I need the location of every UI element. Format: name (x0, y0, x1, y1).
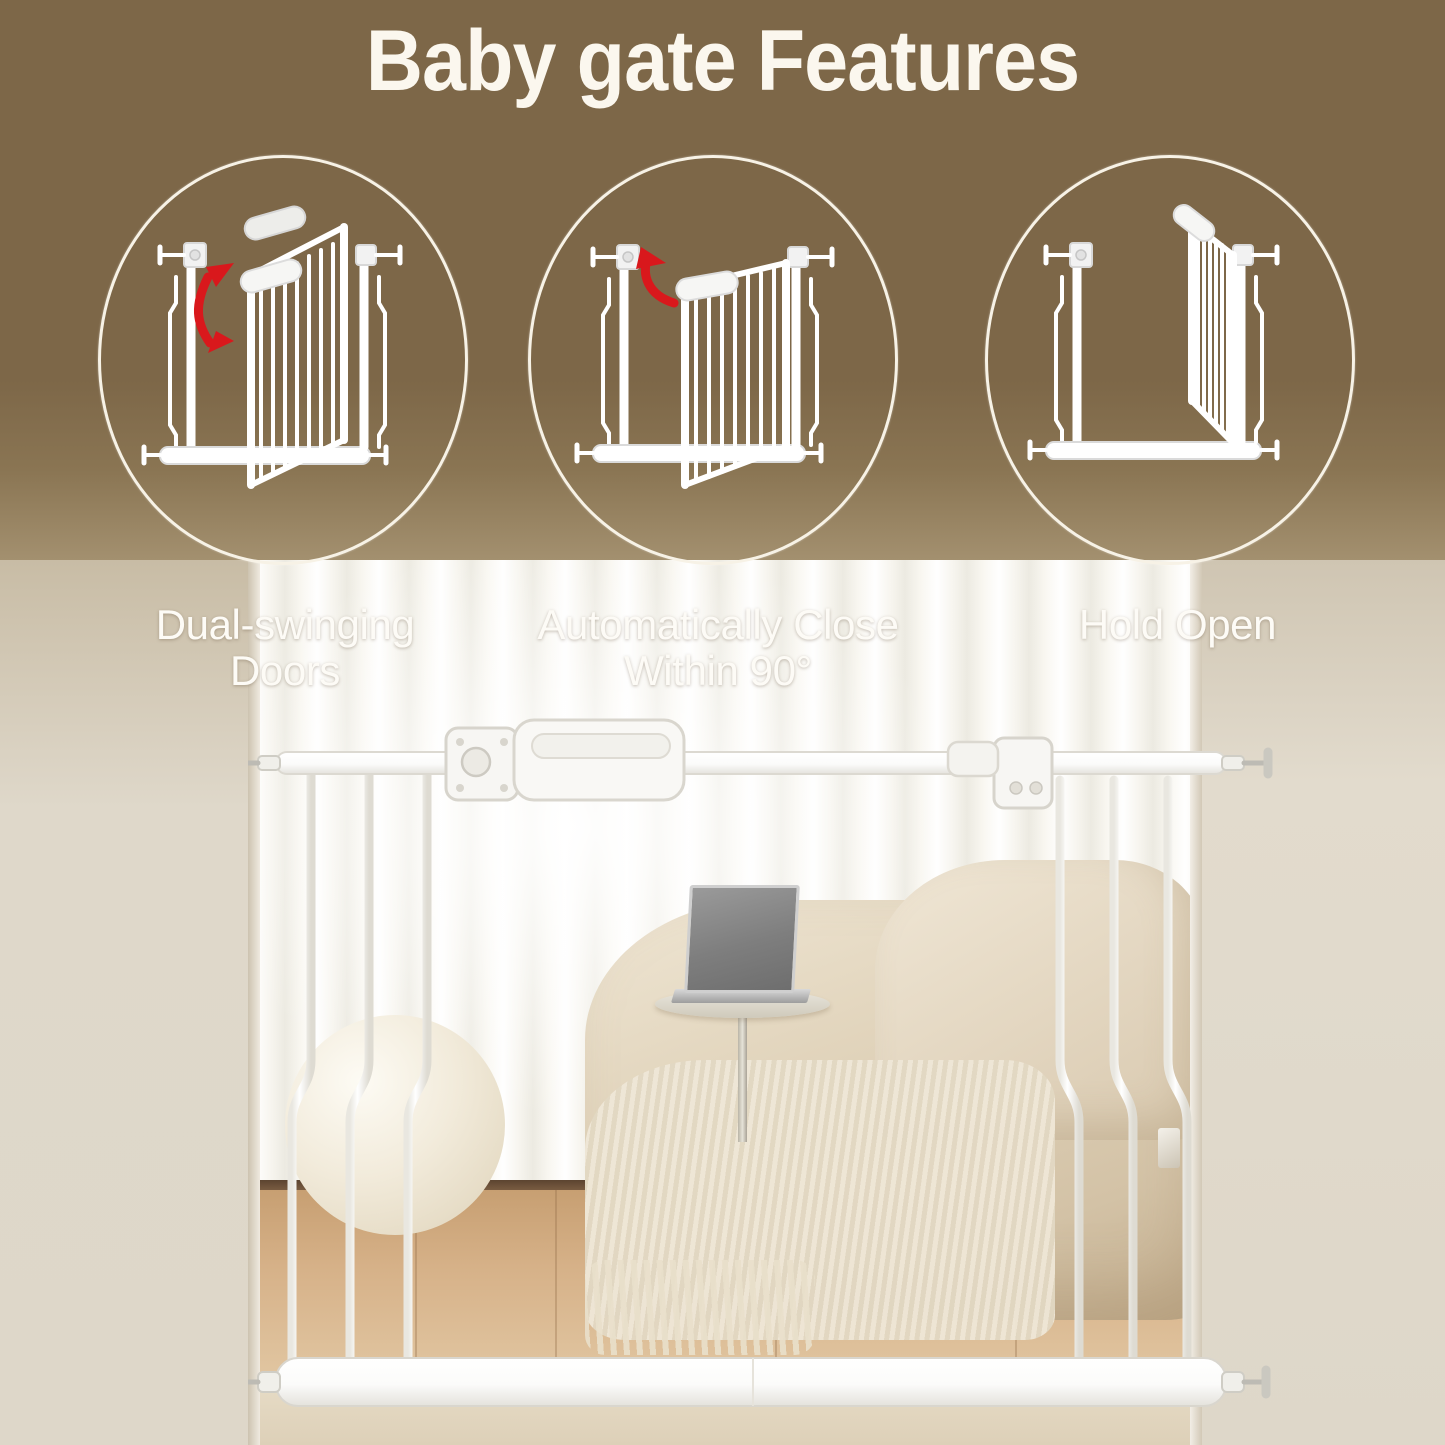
hinge-bracket (446, 728, 518, 800)
caption-line-1: Hold Open (1000, 602, 1355, 648)
bottom-rail (276, 1358, 1226, 1406)
left-extension-panel (292, 772, 427, 1380)
dual-swing-gate-illustration (98, 155, 468, 565)
caption-line-2: Within 90° (488, 648, 948, 694)
feature-dual-swinging-doors (98, 155, 468, 565)
feature-automatically-close (528, 155, 898, 565)
auto-close-arrow (636, 247, 674, 303)
image-canvas: Baby gate Features (0, 0, 1445, 1445)
main-baby-gate (248, 690, 1445, 1445)
feature-hold-open (985, 155, 1355, 565)
auto-close-gate-illustration (528, 155, 898, 565)
bottom-left-pressure-bolt (248, 1370, 280, 1394)
top-right-pressure-bolt (1222, 752, 1268, 774)
right-extension-panel (1060, 780, 1187, 1380)
bottom-right-pressure-bolt (1222, 1370, 1266, 1394)
latch-bracket (948, 738, 1052, 808)
top-rail (276, 752, 1226, 774)
caption-line-1: Dual-swinging (60, 602, 510, 648)
caption-line-2: Doors (60, 648, 510, 694)
hold-open-gate-illustration (985, 155, 1355, 565)
page-title: Baby gate Features (58, 12, 1387, 111)
handle-bar (514, 720, 684, 800)
caption-dual-swinging-doors: Dual-swinging Doors (60, 602, 510, 694)
top-left-pressure-bolt (248, 753, 280, 773)
caption-automatically-close: Automatically Close Within 90° (488, 602, 948, 694)
caption-hold-open: Hold Open (1000, 602, 1355, 648)
gate-door-panel (476, 780, 1006, 1380)
caption-line-1: Automatically Close (488, 602, 948, 648)
double-swing-arrow (198, 263, 234, 353)
